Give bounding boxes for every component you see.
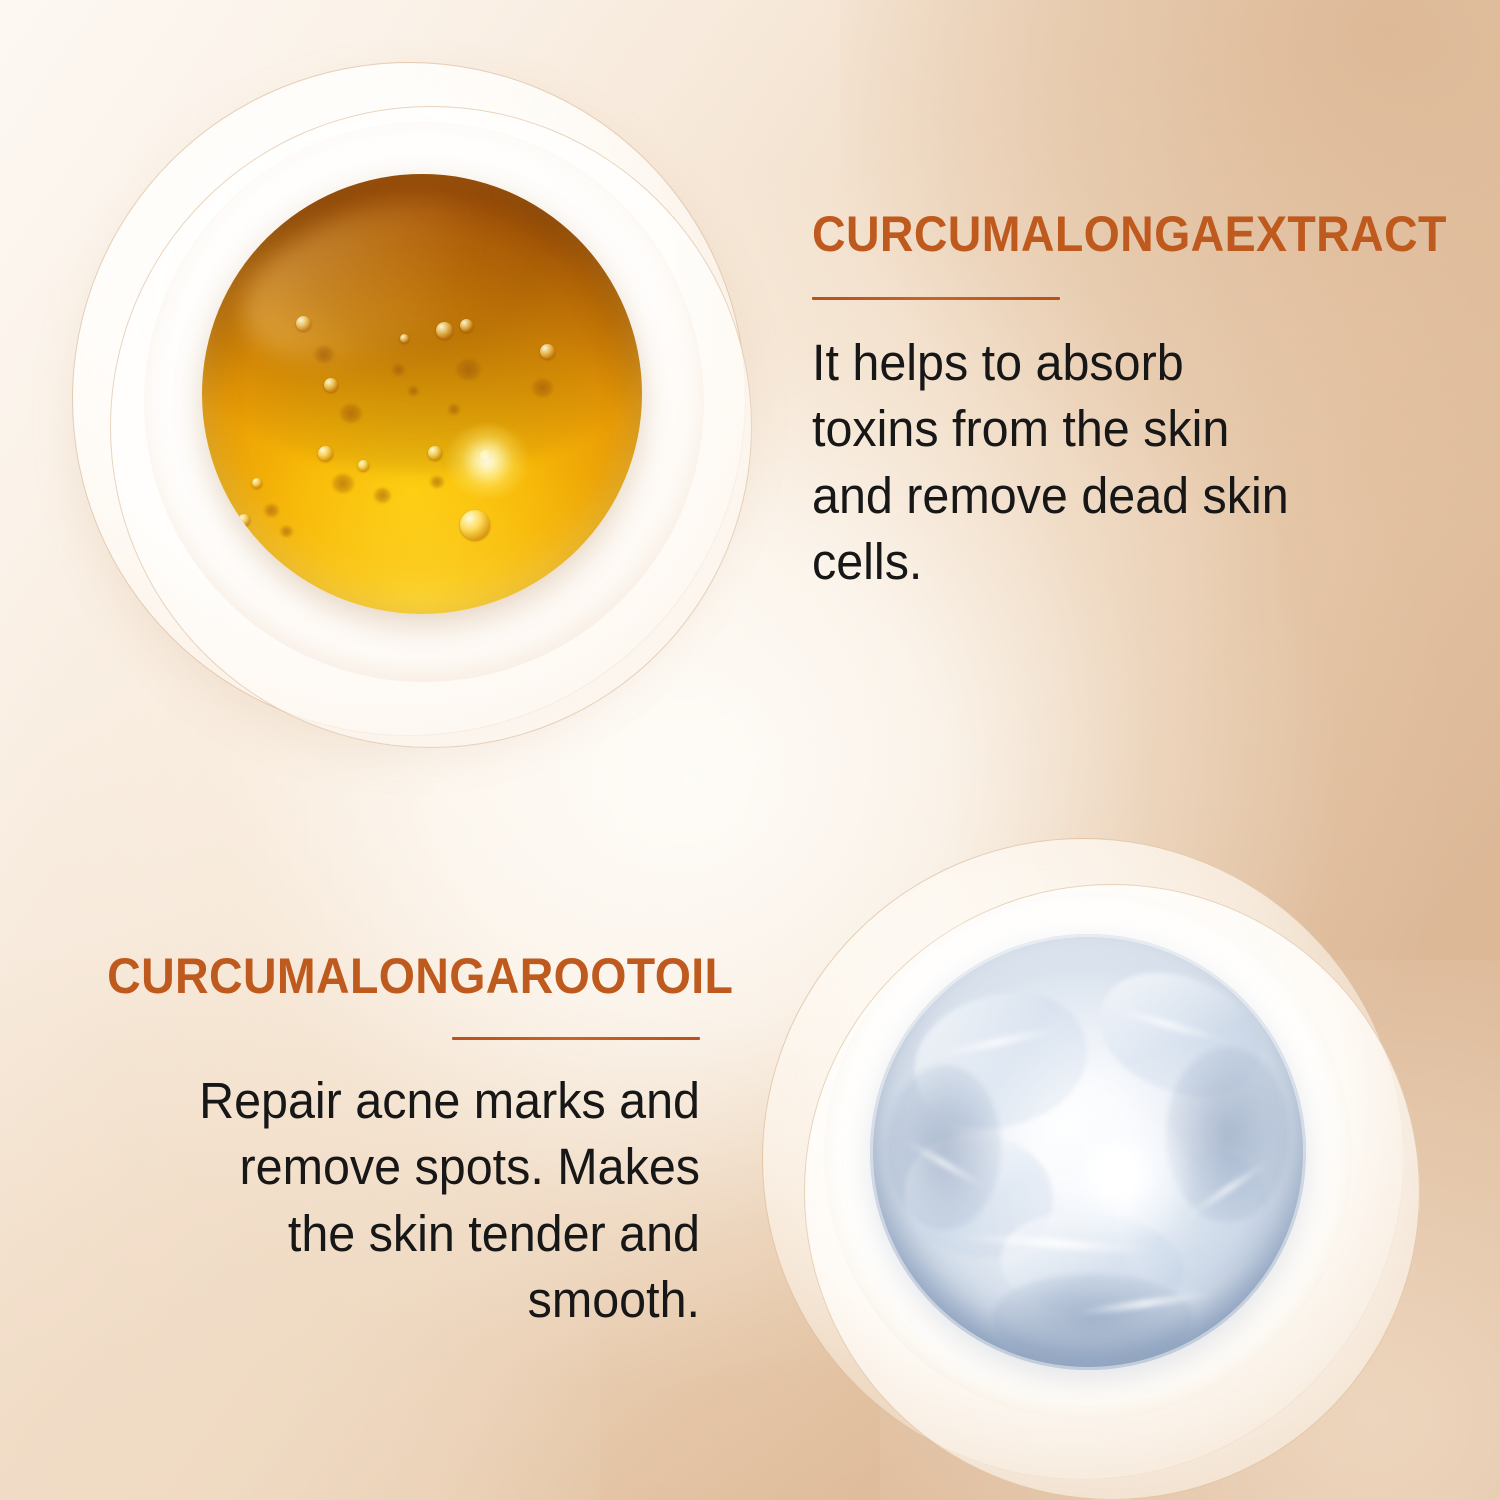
oil-bubble: [436, 322, 453, 339]
body-line: It helps to absorb: [812, 330, 1382, 396]
oil-bubble: [358, 460, 369, 471]
oil-bubble-shadow: [332, 474, 354, 493]
oil-bubble: [296, 316, 311, 331]
oil-bubble-shadow: [456, 359, 481, 380]
ingredient-infographic-poster: CURCUMALONGAEXTRACT It helps to absorb t…: [0, 0, 1500, 1500]
body-line: and remove dead skin: [812, 463, 1382, 529]
body-text-curcuma-longa-root-oil: Repair acne marks and remove spots. Make…: [92, 1068, 700, 1333]
oil-bubble-shadow: [392, 364, 405, 376]
heading-curcuma-longa-extract: CURCUMALONGAEXTRACT: [812, 208, 1407, 261]
golden-oil-droplet: [202, 174, 642, 614]
heading-divider-extract: [812, 297, 1060, 300]
oil-bubble-large: [460, 510, 490, 540]
body-line: cells.: [812, 529, 1382, 595]
oil-bubble: [460, 319, 473, 332]
oil-bubble-shadow: [448, 404, 460, 415]
clear-gel-droplet: [870, 934, 1306, 1370]
oil-bubble-shadow: [314, 346, 334, 363]
oil-specular-highlight: [444, 425, 530, 497]
oil-bubble-shadow: [374, 488, 391, 503]
body-line: toxins from the skin: [812, 396, 1382, 462]
oil-bubble: [428, 446, 442, 460]
heading-divider-root-oil: [452, 1037, 700, 1040]
oil-bubble-shadow: [408, 386, 419, 396]
gel-droplet-image: [762, 838, 1462, 1500]
body-line: the skin tender and: [92, 1201, 700, 1267]
oil-bubble-shadow: [340, 404, 362, 423]
oil-bubble-shadow: [280, 526, 293, 537]
body-line: smooth.: [92, 1267, 700, 1333]
body-line: remove spots. Makes: [92, 1134, 700, 1200]
oil-bubble-shadow: [430, 476, 444, 488]
oil-bubble-shadow: [264, 504, 279, 517]
gel-droplet-rim: [870, 934, 1306, 1370]
oil-droplet-image: [58, 50, 778, 790]
oil-bubble: [400, 334, 409, 343]
body-line: Repair acne marks and: [92, 1068, 700, 1134]
oil-bubble-shadow: [532, 379, 553, 397]
oil-bubble: [238, 514, 250, 526]
oil-bubble: [324, 378, 338, 392]
oil-bubble: [318, 446, 333, 461]
oil-bubble: [540, 344, 555, 359]
heading-curcuma-longa-root-oil: CURCUMALONGAROOTOIL: [107, 950, 733, 1003]
section-curcuma-longa-extract: CURCUMALONGAEXTRACT It helps to absorb t…: [812, 208, 1452, 595]
oil-bubble: [252, 478, 262, 488]
section-curcuma-longa-root-oil: CURCUMALONGAROOTOIL Repair acne marks an…: [60, 950, 700, 1333]
body-text-curcuma-longa-extract: It helps to absorb toxins from the skin …: [812, 330, 1382, 595]
